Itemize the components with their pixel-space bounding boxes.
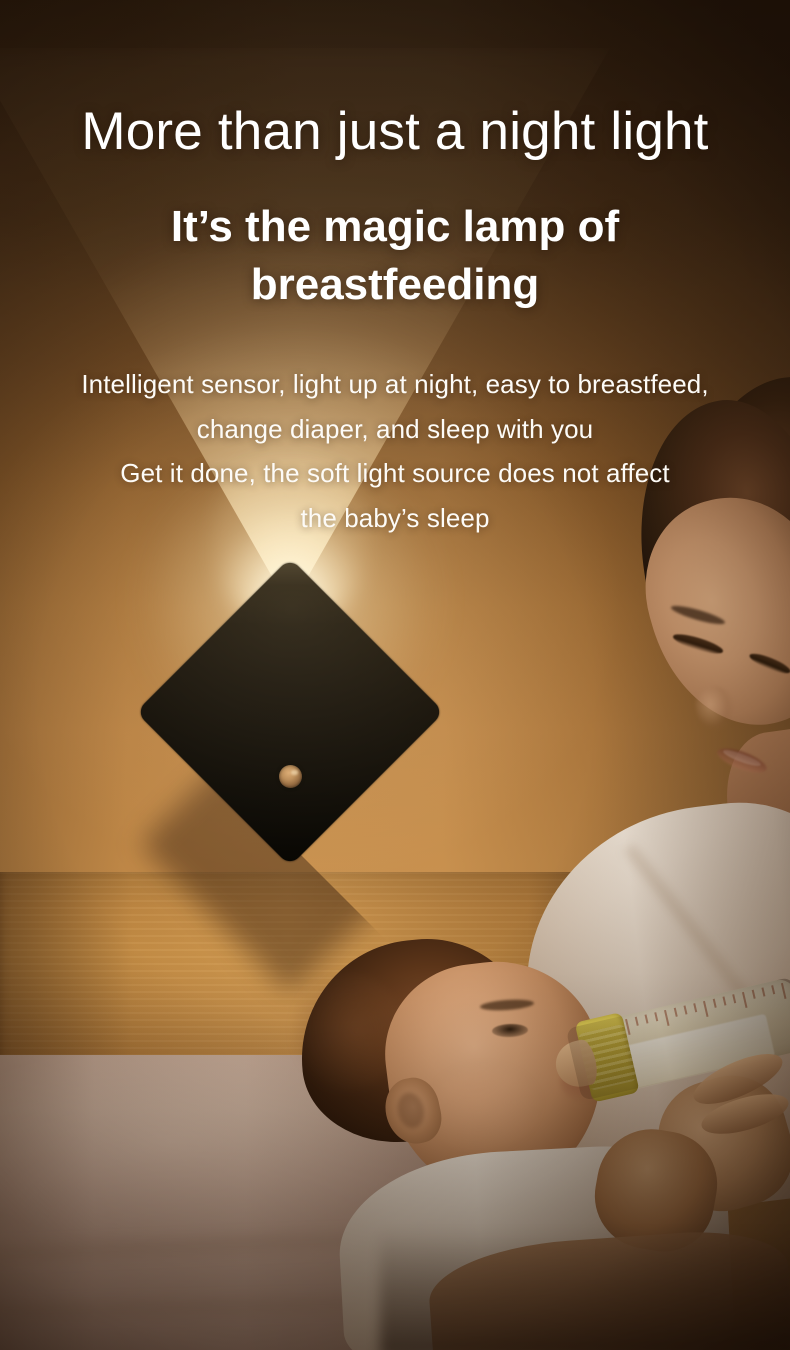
product-lifestyle-photo — [0, 0, 790, 1350]
photo-vignette — [0, 0, 790, 1350]
product-feature-banner: More than just a night light It’s the ma… — [0, 0, 790, 1350]
